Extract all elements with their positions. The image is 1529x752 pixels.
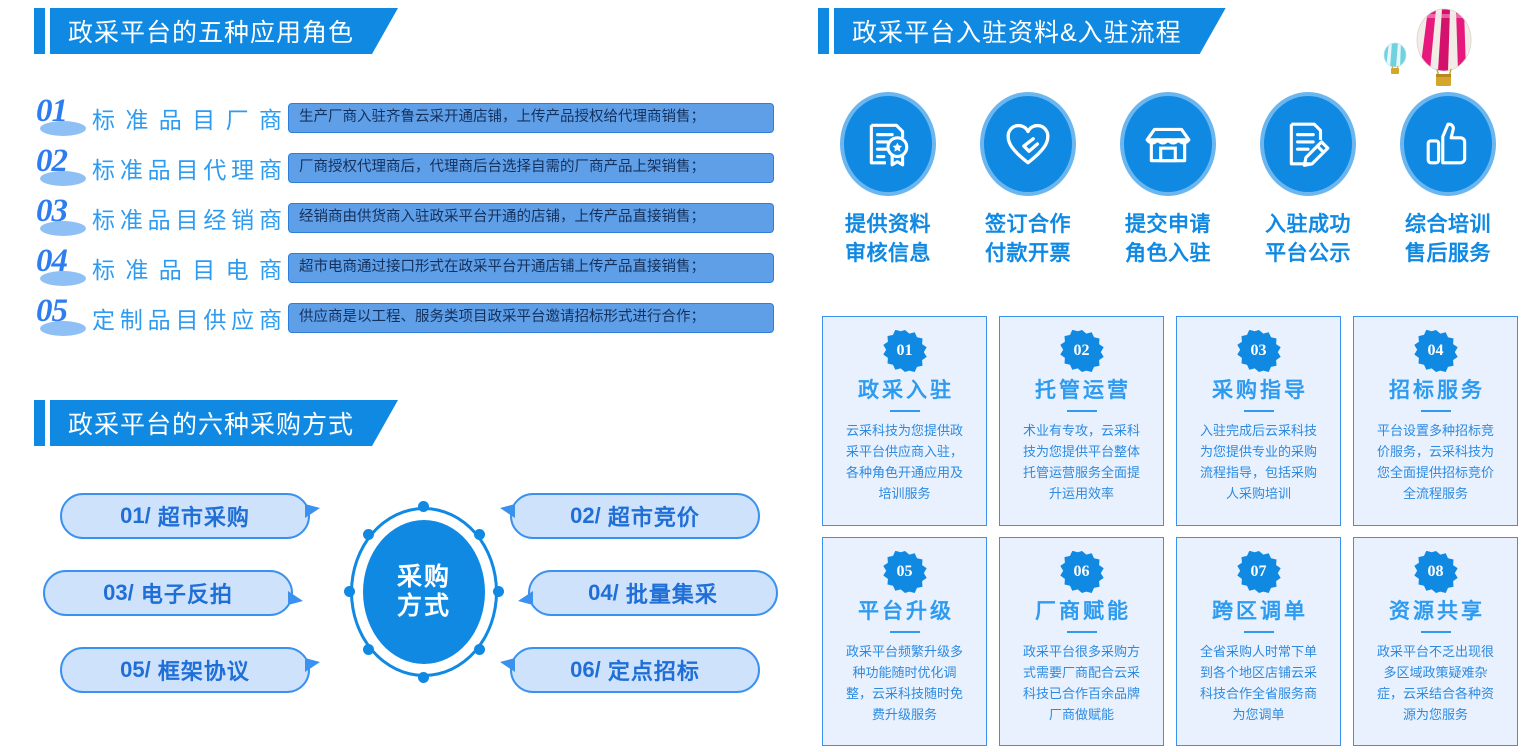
method-number: 04/ xyxy=(588,580,619,606)
role-number: 05 xyxy=(36,293,67,330)
role-number-badge: 02 xyxy=(34,145,92,191)
banner-slab: 政采平台的五种应用角色 xyxy=(50,8,398,54)
flow-step-label: 提交申请 角色入驻 xyxy=(1125,211,1211,269)
wheel-hub-dot xyxy=(344,586,355,597)
card-badge: 07 xyxy=(1237,551,1281,593)
card-divider xyxy=(1067,631,1097,633)
flow-label-line1: 入驻成功 xyxy=(1265,211,1351,240)
onboarding-section-title: 政采平台入驻资料&入驻流程 xyxy=(852,13,1182,49)
card-badge-number: 08 xyxy=(1414,551,1458,593)
wheel-hub-core: 采购 方式 xyxy=(363,520,485,664)
card-badge-number: 07 xyxy=(1237,551,1281,593)
card-title: 跨区调单 xyxy=(1209,595,1308,625)
wheel-hub-line2: 方式 xyxy=(397,592,451,622)
method-pill-02[interactable]: 02/ 超市竞价 xyxy=(510,493,760,539)
method-number: 06/ xyxy=(570,657,601,683)
card-badge-number: 05 xyxy=(883,551,927,593)
service-card[interactable]: 01 政采入驻 云采科技为您提供政采平台供应商入驻，各种角色开通应用及培训服务 xyxy=(822,316,987,526)
role-row[interactable]: 02 标准品目代理商 厂商授权代理商后，代理商后台选择自需的厂商产品上架销售； xyxy=(34,143,774,193)
role-description: 生产厂商入驻齐鲁云采开通店铺，上传产品授权给代理商销售； xyxy=(288,103,774,133)
flow-icon-circle xyxy=(840,92,936,196)
card-title: 平台升级 xyxy=(855,595,954,625)
wheel-hub-dot xyxy=(418,501,429,512)
procurement-methods-wheel: 采购 方式 01/ 超市采购 02/ 超市竞价 03/ 电子反拍 04/ 批量集… xyxy=(20,470,800,720)
service-card[interactable]: 03 采购指导 入驻完成后云采科技为您提供专业的采购流程指导，包括采购人采购培训 xyxy=(1176,316,1341,526)
onboarding-section-banner: 政采平台入驻资料&入驻流程 xyxy=(818,8,1226,54)
card-divider xyxy=(1244,410,1274,412)
flow-label-line2: 审核信息 xyxy=(845,240,931,269)
card-badge: 05 xyxy=(883,551,927,593)
role-number: 02 xyxy=(36,143,67,180)
banner-slab: 政采平台的六种采购方式 xyxy=(50,400,398,446)
service-card[interactable]: 05 平台升级 政采平台频繁升级多种功能随时优化调整，云采科技随时免费升级服务 xyxy=(822,537,987,747)
wheel-hub-dot xyxy=(474,644,485,655)
card-badge-number: 04 xyxy=(1414,330,1458,372)
card-text: 政采平台不乏出现很多区域政策疑难杂症，云采结合各种资源为您服务 xyxy=(1372,641,1500,725)
method-number: 02/ xyxy=(570,503,601,529)
role-row[interactable]: 05 定制品目供应商 供应商是以工程、服务类项目政采平台邀请招标形式进行合作； xyxy=(34,293,774,343)
card-badge-number: 06 xyxy=(1060,551,1104,593)
role-number-badge: 04 xyxy=(34,245,92,291)
method-label: 框架协议 xyxy=(158,654,250,686)
role-row[interactable]: 01 标准品目厂商 生产厂商入驻齐鲁云采开通店铺，上传产品授权给代理商销售； xyxy=(34,93,774,143)
role-number: 04 xyxy=(36,243,67,280)
roles-section-title: 政采平台的五种应用角色 xyxy=(68,13,354,49)
wheel-hub-dot xyxy=(363,644,374,655)
role-row[interactable]: 04 标准品目电商 超市电商通过接口形式在政采平台开通店铺上传产品直接销售； xyxy=(34,243,774,293)
handshake-heart-icon xyxy=(1003,119,1053,169)
card-title: 资源共享 xyxy=(1386,595,1485,625)
document-edit-icon xyxy=(1283,119,1333,169)
method-pill-05[interactable]: 05/ 框架协议 xyxy=(60,647,310,693)
card-title: 托管运营 xyxy=(1032,374,1131,404)
card-badge: 06 xyxy=(1060,551,1104,593)
method-label: 批量集采 xyxy=(626,577,718,609)
card-text: 术业有专攻，云采科技为您提供平台整体托管运营服务全面提升运用效率 xyxy=(1018,420,1146,504)
card-divider xyxy=(890,410,920,412)
flow-label-line2: 角色入驻 xyxy=(1125,240,1211,269)
role-name: 标准品目厂商 xyxy=(92,101,284,135)
banner-gap xyxy=(45,400,50,446)
card-divider xyxy=(1067,410,1097,412)
card-divider xyxy=(890,631,920,633)
role-number: 03 xyxy=(36,193,67,230)
card-badge: 04 xyxy=(1414,330,1458,372)
flow-icon-circle xyxy=(1120,92,1216,196)
wheel-hub-dot xyxy=(474,529,485,540)
flow-step-label: 入驻成功 平台公示 xyxy=(1265,211,1351,269)
flow-step-label: 综合培训 售后服务 xyxy=(1405,211,1491,269)
flow-label-line1: 签订合作 xyxy=(985,211,1071,240)
hot-air-balloon-icon xyxy=(1372,4,1488,88)
infographic-page: 政采平台的五种应用角色 01 标准品目厂商 生产厂商入驻齐鲁云采开通店铺，上传产… xyxy=(0,0,1529,752)
wheel-hub-line1: 采购 xyxy=(397,563,451,593)
role-name: 标准品目代理商 xyxy=(92,151,284,185)
service-card[interactable]: 04 招标服务 平台设置多种招标竞价服务，云采科技为您全面提供招标竞价全流程服务 xyxy=(1353,316,1518,526)
banner-gap xyxy=(829,8,834,54)
role-name: 标准品目电商 xyxy=(92,251,284,285)
card-badge: 01 xyxy=(883,330,927,372)
card-divider xyxy=(1421,631,1451,633)
method-pill-06[interactable]: 06/ 定点招标 xyxy=(510,647,760,693)
roles-section-banner: 政采平台的五种应用角色 xyxy=(34,8,398,54)
role-number-badge: 05 xyxy=(34,295,92,341)
storefront-icon xyxy=(1143,119,1193,169)
flow-label-line2: 售后服务 xyxy=(1405,240,1491,269)
flow-step-label: 签订合作 付款开票 xyxy=(985,211,1071,269)
role-number-badge: 01 xyxy=(34,95,92,141)
card-text: 政采平台频繁升级多种功能随时优化调整，云采科技随时免费升级服务 xyxy=(841,641,969,725)
wheel-hub: 采购 方式 xyxy=(350,507,498,677)
wheel-hub-dot xyxy=(493,586,504,597)
banner-accent-bar xyxy=(34,400,45,446)
flow-step-label: 提供资料 审核信息 xyxy=(845,211,931,269)
flow-step-5[interactable]: 综合培训 售后服务 xyxy=(1378,92,1518,269)
role-number: 01 xyxy=(36,93,67,130)
service-card[interactable]: 06 厂商赋能 政采平台很多采购方式需要厂商配合云采科技已合作百余品牌厂商做赋能 xyxy=(999,537,1164,747)
role-number-badge: 03 xyxy=(34,195,92,241)
methods-section-banner: 政采平台的六种采购方式 xyxy=(34,400,398,446)
method-number: 01/ xyxy=(120,503,151,529)
certificate-icon xyxy=(863,119,913,169)
service-card[interactable]: 02 托管运营 术业有专攻，云采科技为您提供平台整体托管运营服务全面提升运用效率 xyxy=(999,316,1164,526)
wheel-hub-dot xyxy=(363,529,374,540)
flow-step-3[interactable]: 提交申请 角色入驻 xyxy=(1098,92,1238,269)
flow-icon-circle xyxy=(980,92,1076,196)
method-label: 超市竞价 xyxy=(608,500,700,532)
method-number: 03/ xyxy=(103,580,134,606)
card-badge: 02 xyxy=(1060,330,1104,372)
flow-label-line2: 付款开票 xyxy=(985,240,1071,269)
card-title: 政采入驻 xyxy=(855,374,954,404)
card-text: 政采平台很多采购方式需要厂商配合云采科技已合作百余品牌厂商做赋能 xyxy=(1018,641,1146,725)
card-badge-number: 01 xyxy=(883,330,927,372)
card-divider xyxy=(1244,631,1274,633)
method-pill-03[interactable]: 03/ 电子反拍 xyxy=(43,570,293,616)
card-title: 厂商赋能 xyxy=(1032,595,1131,625)
method-number: 05/ xyxy=(120,657,151,683)
card-badge-number: 02 xyxy=(1060,330,1104,372)
flow-label-line1: 提供资料 xyxy=(845,211,931,240)
onboarding-flow-row: 提供资料 审核信息 签订合作 付款开票 xyxy=(818,92,1518,269)
role-description: 经销商由供货商入驻政采平台开通的店铺，上传产品直接销售； xyxy=(288,203,774,233)
banner-gap xyxy=(45,8,50,54)
flow-label-line1: 综合培训 xyxy=(1405,211,1491,240)
card-title: 招标服务 xyxy=(1386,374,1485,404)
flow-step-1[interactable]: 提供资料 审核信息 xyxy=(818,92,958,269)
methods-section-title: 政采平台的六种采购方式 xyxy=(68,405,354,441)
banner-slab: 政采平台入驻资料&入驻流程 xyxy=(834,8,1226,54)
card-text: 平台设置多种招标竞价服务，云采科技为您全面提供招标竞价全流程服务 xyxy=(1372,420,1500,504)
flow-label-line1: 提交申请 xyxy=(1125,211,1211,240)
service-card[interactable]: 08 资源共享 政采平台不乏出现很多区域政策疑难杂症，云采结合各种资源为您服务 xyxy=(1353,537,1518,747)
wheel-hub-dot xyxy=(418,672,429,683)
role-description: 厂商授权代理商后，代理商后台选择自需的厂商产品上架销售； xyxy=(288,153,774,183)
flow-icon-circle xyxy=(1260,92,1356,196)
card-badge: 03 xyxy=(1237,330,1281,372)
card-badge-number: 03 xyxy=(1237,330,1281,372)
service-card[interactable]: 07 跨区调单 全省采购人时常下单到各个地区店铺云采科技合作全省服务商为您调单 xyxy=(1176,537,1341,747)
banner-accent-bar xyxy=(818,8,829,54)
card-divider xyxy=(1421,410,1451,412)
method-pill-01[interactable]: 01/ 超市采购 xyxy=(60,493,310,539)
method-pill-04[interactable]: 04/ 批量集采 xyxy=(528,570,778,616)
method-label: 超市采购 xyxy=(158,500,250,532)
role-name: 定制品目供应商 xyxy=(92,301,284,335)
roles-list: 01 标准品目厂商 生产厂商入驻齐鲁云采开通店铺，上传产品授权给代理商销售； 0… xyxy=(34,93,774,343)
role-name: 标准品目经销商 xyxy=(92,201,284,235)
service-cards-grid: 01 政采入驻 云采科技为您提供政采平台供应商入驻，各种角色开通应用及培训服务 … xyxy=(822,316,1518,746)
flow-step-2[interactable]: 签订合作 付款开票 xyxy=(958,92,1098,269)
role-description: 供应商是以工程、服务类项目政采平台邀请招标形式进行合作； xyxy=(288,303,774,333)
card-title: 采购指导 xyxy=(1209,374,1308,404)
flow-icon-circle xyxy=(1400,92,1496,196)
card-text: 全省采购人时常下单到各个地区店铺云采科技合作全省服务商为您调单 xyxy=(1195,641,1323,725)
flow-step-4[interactable]: 入驻成功 平台公示 xyxy=(1238,92,1378,269)
thumbs-up-icon xyxy=(1423,119,1473,169)
role-description: 超市电商通过接口形式在政采平台开通店铺上传产品直接销售； xyxy=(288,253,774,283)
method-label: 定点招标 xyxy=(608,654,700,686)
card-badge: 08 xyxy=(1414,551,1458,593)
card-text: 云采科技为您提供政采平台供应商入驻，各种角色开通应用及培训服务 xyxy=(841,420,969,504)
flow-label-line2: 平台公示 xyxy=(1265,240,1351,269)
role-row[interactable]: 03 标准品目经销商 经销商由供货商入驻政采平台开通的店铺，上传产品直接销售； xyxy=(34,193,774,243)
banner-accent-bar xyxy=(34,8,45,54)
card-text: 入驻完成后云采科技为您提供专业的采购流程指导，包括采购人采购培训 xyxy=(1195,420,1323,504)
method-label: 电子反拍 xyxy=(141,577,233,609)
